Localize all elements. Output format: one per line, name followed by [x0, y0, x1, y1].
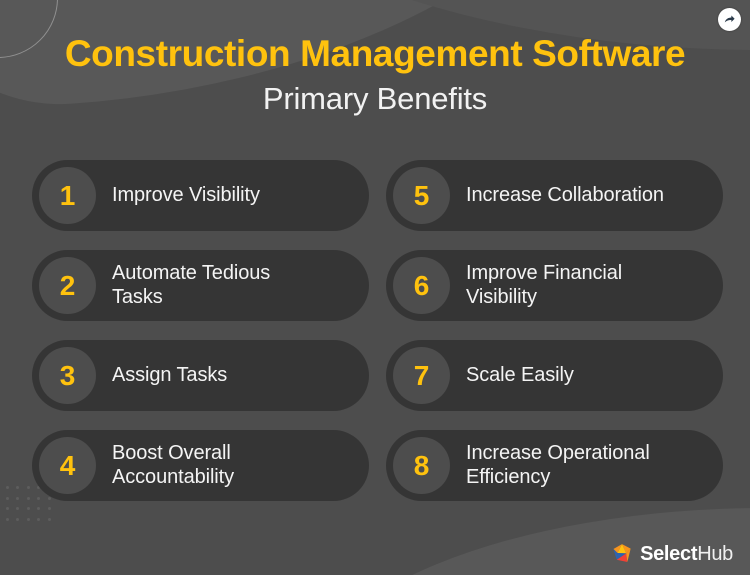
page-subtitle: Primary Benefits — [0, 74, 750, 116]
benefit-label: Assign Tasks — [96, 364, 369, 388]
share-arrow-icon — [723, 13, 736, 26]
benefit-number-badge: 5 — [393, 167, 450, 224]
benefit-number-badge: 7 — [393, 347, 450, 404]
benefit-label: Scale Easily — [450, 364, 723, 388]
benefit-number-badge: 6 — [393, 257, 450, 314]
benefit-card-3[interactable]: 3 Assign Tasks — [32, 340, 369, 411]
benefit-number-badge: 1 — [39, 167, 96, 224]
benefit-number-badge: 8 — [393, 437, 450, 494]
share-button[interactable] — [718, 8, 741, 31]
bottom-swoosh-shape — [300, 508, 750, 575]
benefit-card-1[interactable]: 1 Improve Visibility — [32, 160, 369, 231]
benefits-grid: 1 Improve Visibility 5 Increase Collabor… — [32, 160, 723, 501]
benefit-label: Improve Visibility — [96, 184, 369, 208]
benefit-number-badge: 2 — [39, 257, 96, 314]
benefit-card-8[interactable]: 8 Increase Operational Efficiency — [386, 430, 723, 501]
benefit-label: Increase Operational Efficiency — [450, 442, 723, 489]
benefit-card-5[interactable]: 5 Increase Collaboration — [386, 160, 723, 231]
page-title: Construction Management Software — [0, 0, 750, 74]
benefit-card-2[interactable]: 2 Automate Tedious Tasks — [32, 250, 369, 321]
benefit-label: Improve Financial Visibility — [450, 262, 723, 309]
header: Construction Management Software Primary… — [0, 0, 750, 116]
benefit-label: Automate Tedious Tasks — [96, 262, 369, 309]
benefit-card-4[interactable]: 4 Boost Overall Accountability — [32, 430, 369, 501]
benefit-number-badge: 4 — [39, 437, 96, 494]
brand-name-bold: Select — [640, 543, 697, 565]
benefit-label: Boost Overall Accountability — [96, 442, 369, 489]
infographic-canvas: Construction Management Software Primary… — [0, 0, 750, 575]
benefit-label: Increase Collaboration — [450, 184, 723, 208]
brand-name-light: Hub — [697, 543, 733, 565]
brand-wordmark: SelectHub — [640, 544, 733, 564]
benefit-number-badge: 3 — [39, 347, 96, 404]
selecthub-cube-icon — [611, 543, 633, 564]
benefit-card-7[interactable]: 7 Scale Easily — [386, 340, 723, 411]
brand-logo[interactable]: SelectHub — [611, 543, 733, 564]
benefit-card-6[interactable]: 6 Improve Financial Visibility — [386, 250, 723, 321]
